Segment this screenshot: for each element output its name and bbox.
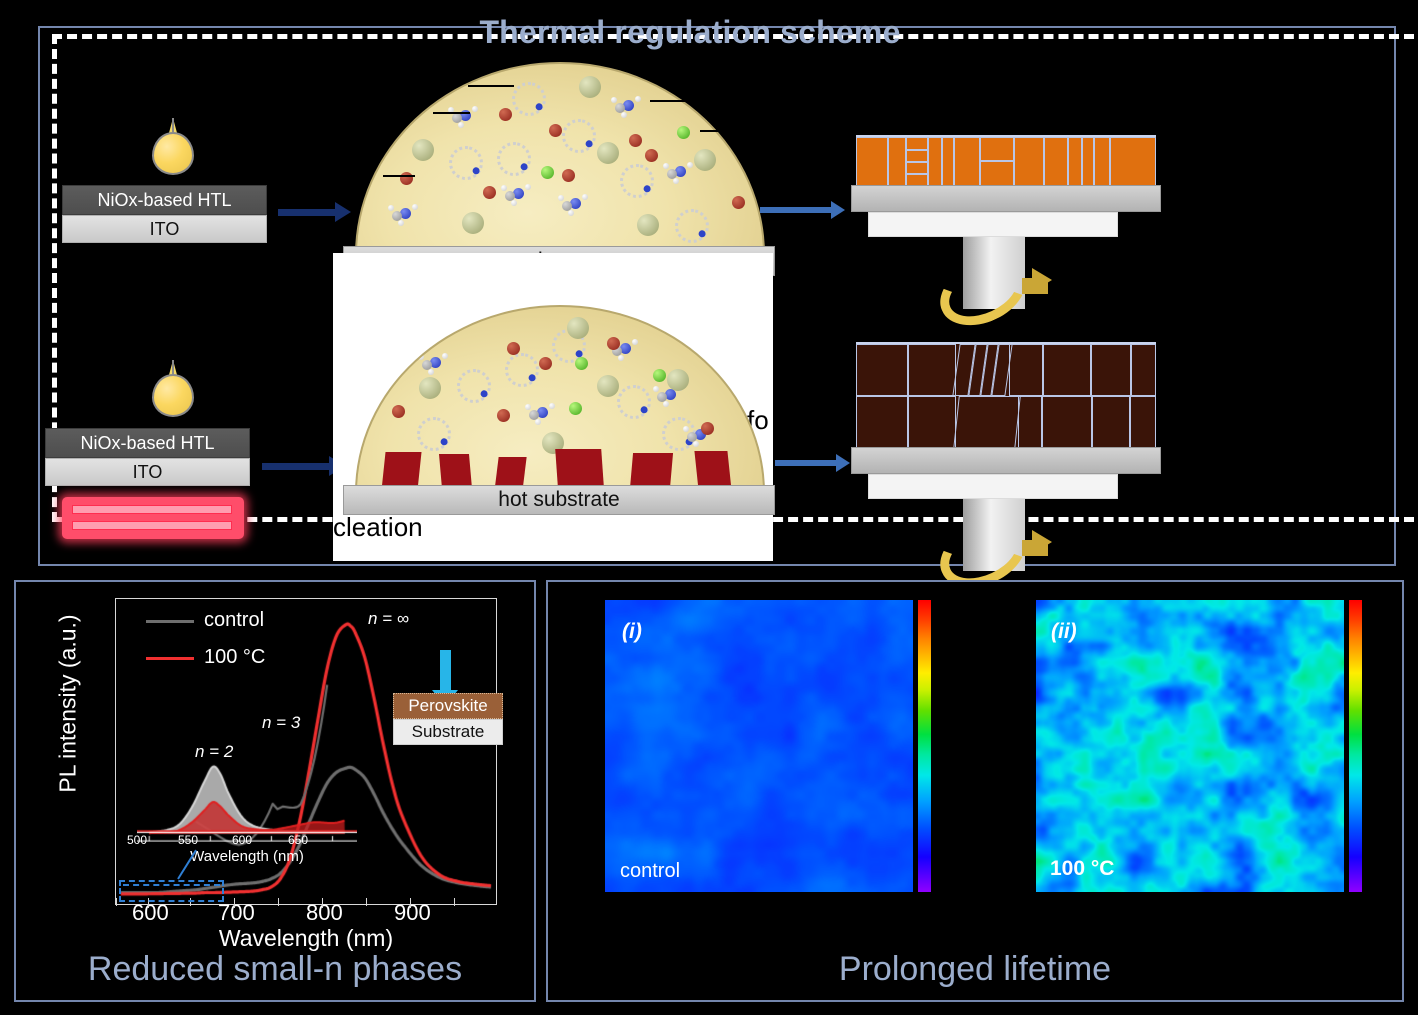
- pl-inset-plot: [137, 742, 357, 842]
- legend-swatch-hot: [146, 657, 194, 660]
- substrate-stack-hot: NiOx-based HTL ITO: [45, 428, 250, 486]
- jet-colorbar-icon: [918, 600, 931, 892]
- pl-xtick-1: 700: [218, 900, 255, 926]
- pointer-arrow-icon: [440, 650, 451, 690]
- substrate-bar-hot: hot substrate: [343, 485, 775, 515]
- substrate-layer-label: Substrate: [393, 719, 503, 745]
- device-substrate-control: [851, 185, 1161, 212]
- annotation-n-inf: n = ∞: [368, 609, 409, 629]
- inset-xtick-3: 650: [288, 833, 308, 847]
- map-index-label-ii: (ii): [1051, 620, 1077, 644]
- jet-colorbar-icon: [1349, 600, 1362, 892]
- map-index-label-i: (i): [622, 620, 642, 644]
- pl-xtick-3: 900: [394, 900, 431, 926]
- device-substrate-hot: [851, 447, 1161, 474]
- scheme-title: Thermal regulation scheme: [455, 14, 925, 51]
- annotation-n3: n = 3: [262, 713, 300, 733]
- legend-swatch-control: [146, 620, 194, 623]
- process-arrow-top: [278, 209, 336, 216]
- pl-x-axis-label: Wavelength (nm): [115, 925, 497, 952]
- leader-line: [433, 112, 470, 114]
- inset-x-axis-label: Wavelength (nm): [137, 848, 357, 865]
- map-sample-label-control: control: [620, 860, 680, 883]
- leader-line: [700, 130, 740, 132]
- hotplate-heater-icon: [62, 497, 244, 539]
- lifetime-map-control: [605, 600, 913, 892]
- legend-label-hot: 100 °C: [204, 646, 265, 669]
- perovskite-substrate-stack: Perovskite Substrate: [393, 693, 503, 745]
- ito-layer-label: ITO: [45, 458, 250, 486]
- inset-xtick-0: 500: [127, 833, 147, 847]
- leader-line: [650, 100, 690, 102]
- leader-line: [383, 175, 415, 177]
- occluded-text-left: cleation: [333, 512, 423, 543]
- perovskite-film-control: [856, 135, 1156, 185]
- pl-panel-caption: Reduced small-n phases: [20, 950, 530, 989]
- pl-xtick-2: 800: [306, 900, 343, 926]
- chuck-plate: [868, 212, 1118, 237]
- lifetime-panel-caption: Prolonged lifetime: [560, 950, 1390, 989]
- ito-layer-label: ITO: [62, 215, 267, 243]
- pl-xtick-0: 600: [132, 900, 169, 926]
- perovskite-film-hot: [856, 342, 1156, 447]
- substrate-stack-control: NiOx-based HTL ITO: [62, 185, 267, 243]
- pl-inset-canvas: [137, 742, 357, 842]
- spin-coater-hot: [0, 0, 300, 105]
- htl-layer-label: NiOx-based HTL: [62, 185, 267, 215]
- process-arrow-bottom: [262, 463, 330, 470]
- perovskite-layer-label: Perovskite: [393, 693, 503, 719]
- rotation-arrow-tail-icon: [1022, 540, 1048, 556]
- lifetime-map-hot: [1036, 600, 1344, 892]
- result-arrow-bottom: [775, 460, 837, 466]
- inset-xtick-2: 600: [232, 833, 252, 847]
- pl-y-axis-label: PL intensity (a.u.): [55, 594, 82, 814]
- precursor-droplet-icon: [152, 360, 194, 418]
- map-sample-label-hot: 100 °C: [1050, 857, 1114, 881]
- rotation-arrow-tail-icon: [1022, 278, 1048, 294]
- htl-layer-label: NiOx-based HTL: [45, 428, 250, 458]
- chuck-plate: [868, 474, 1118, 499]
- legend-label-control: control: [204, 609, 264, 632]
- precursor-droplet-icon: [152, 118, 194, 176]
- leader-line: [468, 85, 514, 87]
- inset-xtick-1: 550: [178, 833, 198, 847]
- result-arrow-top: [760, 207, 832, 213]
